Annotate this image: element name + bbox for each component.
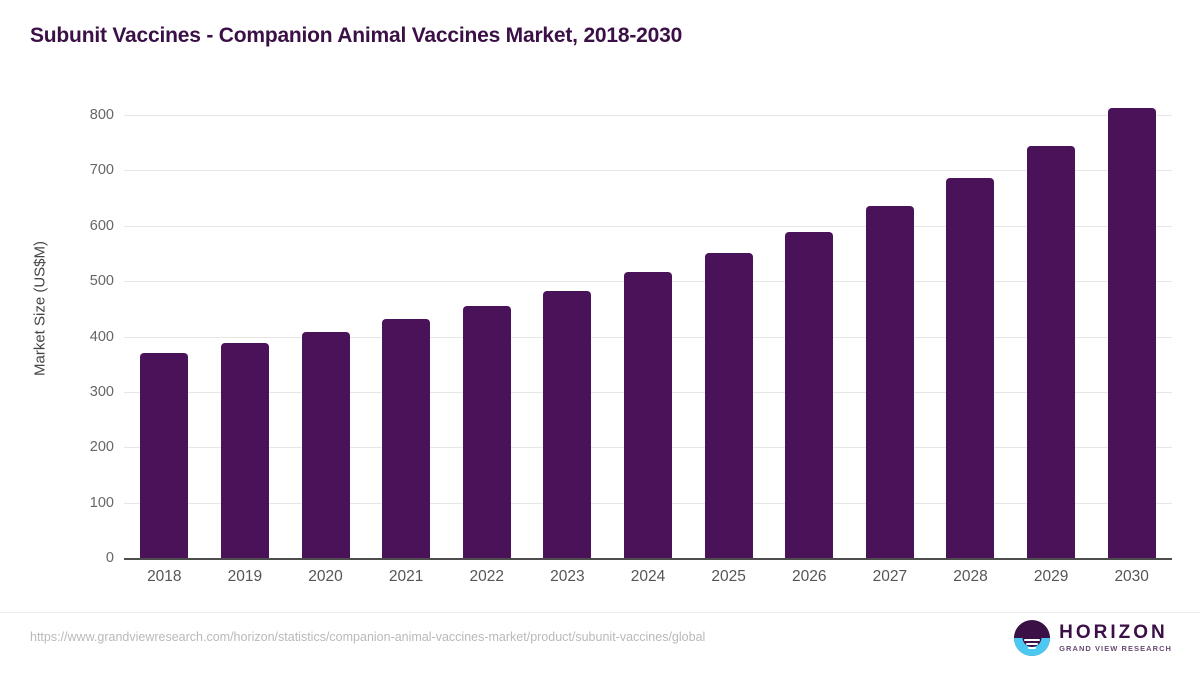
source-url[interactable]: https://www.grandviewresearch.com/horizo… [30,630,705,644]
y-tick-label: 700 [52,162,114,178]
logo-ray-1 [1024,639,1040,641]
bar[interactable] [221,343,269,558]
y-tick-label: 200 [52,439,114,455]
x-tick-label: 2023 [527,568,608,586]
y-axis-title: Market Size (US$M) [32,109,49,509]
x-tick-label: 2020 [285,568,366,586]
x-tick-label: 2027 [850,568,931,586]
x-tick-label: 2022 [446,568,527,586]
bar-slot [527,90,608,558]
bar-slot [608,90,689,558]
x-tick-label: 2029 [1011,568,1092,586]
x-tick-label: 2026 [769,568,850,586]
x-tick-label: 2018 [124,568,205,586]
logo-tagline: GRAND VIEW RESEARCH [1059,645,1172,653]
bar-slot [769,90,850,558]
y-tick-label: 100 [52,495,114,511]
bar[interactable] [543,291,591,558]
bar[interactable] [302,332,350,558]
plot-area: Market Size (US$M) 010020030040050060070… [0,90,1200,580]
x-axis-ticks: 2018201920202021202220232024202520262027… [124,562,1172,596]
y-tick-label: 300 [52,384,114,400]
bar-slot [124,90,205,558]
bar-series [124,90,1172,558]
y-axis-ticks: 0100200300400500600700800 [52,90,114,560]
bar[interactable] [705,253,753,558]
x-tick-label: 2030 [1091,568,1172,586]
x-tick-label: 2028 [930,568,1011,586]
bar-slot [285,90,366,558]
bar-slot [1091,90,1172,558]
logo-ray-3 [1028,647,1036,649]
logo-wordmark: HORIZON [1059,623,1172,643]
bar[interactable] [624,272,672,558]
bar-slot [205,90,286,558]
bar[interactable] [1108,108,1156,558]
y-tick-label: 500 [52,273,114,289]
x-tick-label: 2021 [366,568,447,586]
bar[interactable] [140,353,188,558]
bar[interactable] [866,206,914,558]
x-tick-label: 2019 [205,568,286,586]
y-tick-label: 600 [52,218,114,234]
footer-divider [0,612,1200,613]
y-tick-label: 400 [52,329,114,345]
page-title: Subunit Vaccines - Companion Animal Vacc… [30,24,682,48]
y-tick-label: 800 [52,107,114,123]
bar[interactable] [382,319,430,558]
x-tick-label: 2024 [608,568,689,586]
bar[interactable] [1027,146,1075,558]
horizon-sunrise-icon [1014,620,1050,656]
bar-slot [446,90,527,558]
logo-ray-2 [1026,643,1038,645]
bar[interactable] [946,178,994,558]
horizon-logo: HORIZON GRAND VIEW RESEARCH [1014,616,1172,660]
bar[interactable] [785,232,833,558]
bar-slot [850,90,931,558]
chart-page: Subunit Vaccines - Companion Animal Vacc… [0,0,1200,675]
bar-slot [930,90,1011,558]
logo-text: HORIZON GRAND VIEW RESEARCH [1059,623,1172,653]
bar-slot [1011,90,1092,558]
bar[interactable] [463,306,511,559]
x-tick-label: 2025 [688,568,769,586]
bar-slot [366,90,447,558]
y-tick-label: 0 [52,550,114,566]
x-axis-line [124,558,1172,560]
bar-slot [688,90,769,558]
